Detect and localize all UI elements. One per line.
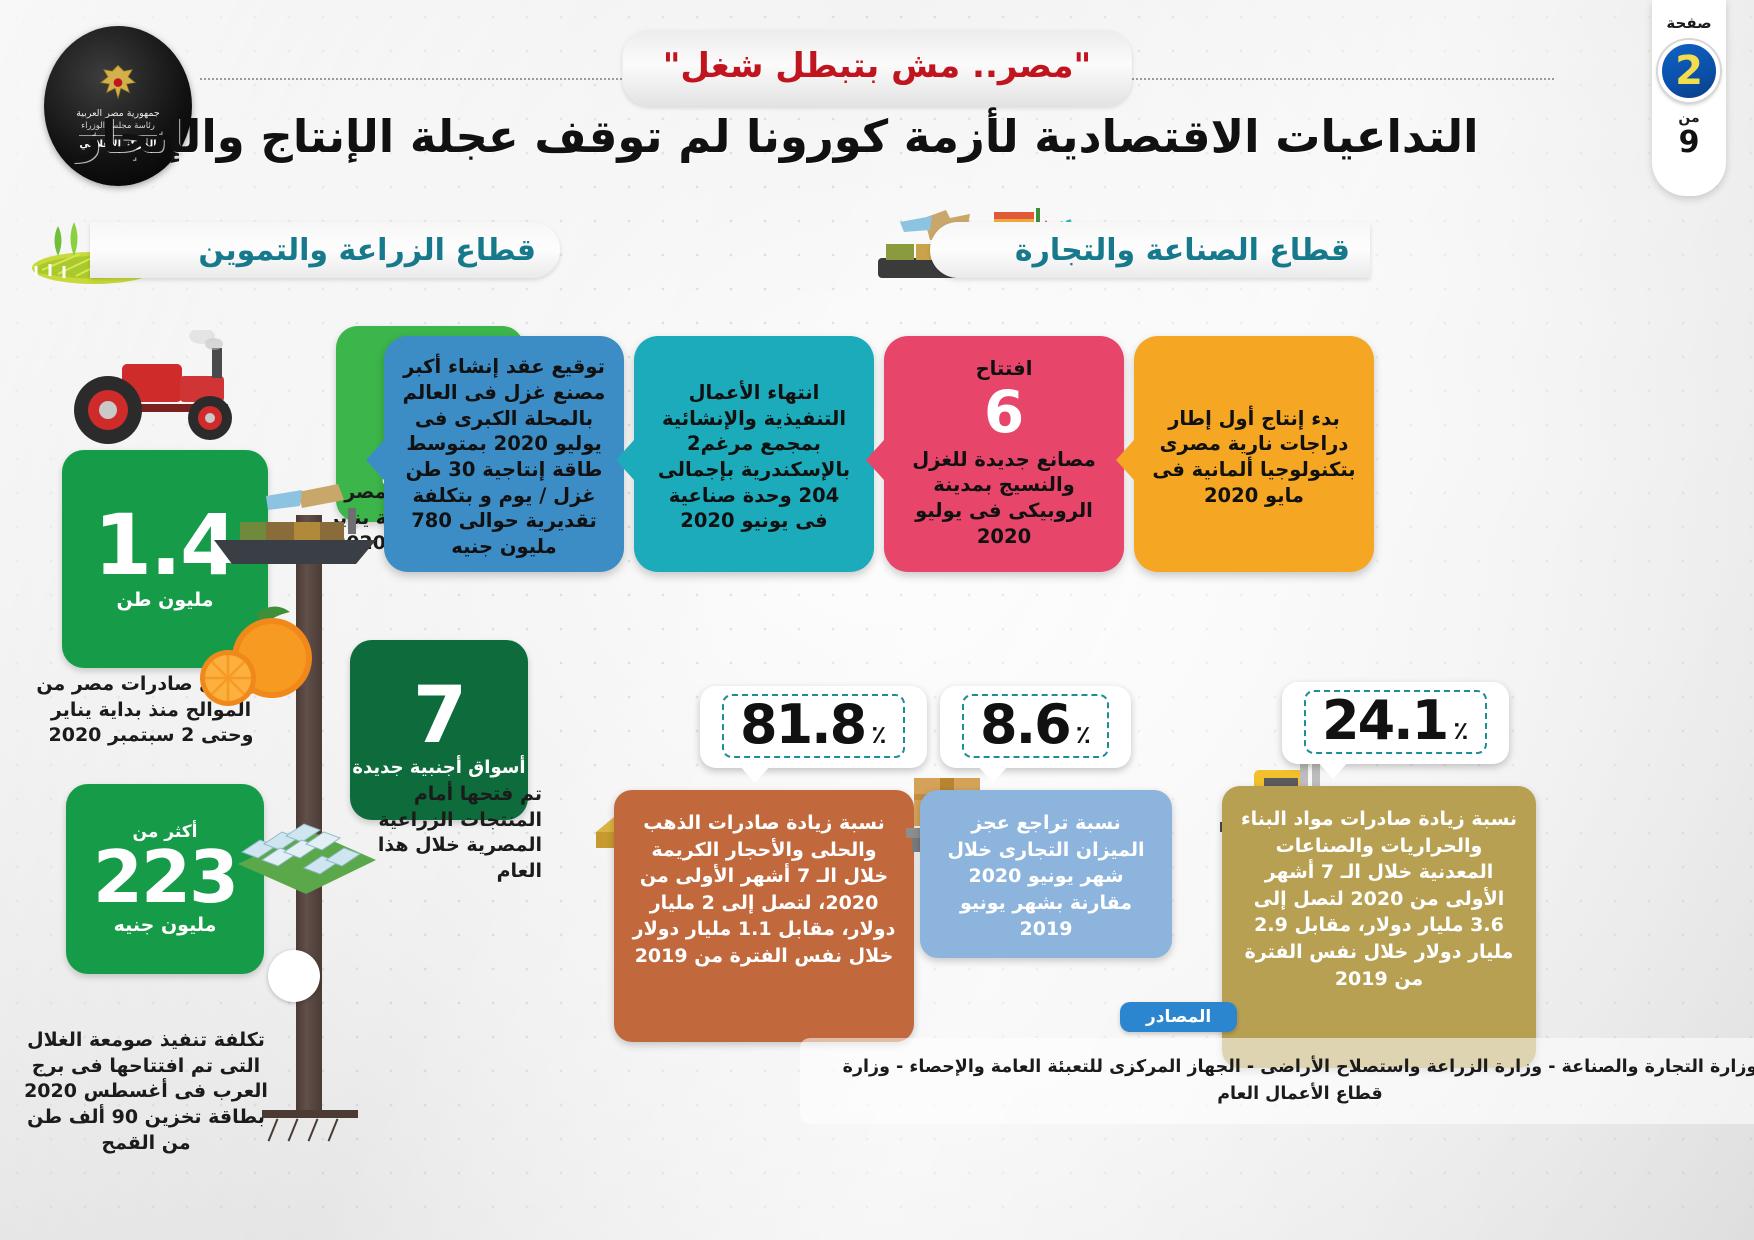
industry-box-1-text: توقيع عقد إنشاء أكبر مصنع غزل فى العالم … [400,354,608,560]
percent-caption-2: نسبة تراجع عجز الميزان التجارى خلال شهر … [920,790,1172,958]
section-header-industry: قطاع الصناعة والتجارة [930,222,1370,278]
percent-value-2: 8.6 [980,698,1070,752]
industry-box-2: انتهاء الأعمال التنفيذية والإنشائية بمجم… [634,336,874,572]
sources-label: المصادر [1120,1002,1237,1032]
eagle-emblem-icon [95,61,141,107]
sources-text: وزارة التجارة والصناعة - وزارة الزراعة و… [800,1038,1754,1124]
industry-box-4-text: بدء إنتاج أول إطار دراجات نارية مصرى بتك… [1150,406,1358,509]
percent-bubble-2: ٪ 8.6 [940,686,1131,768]
headline-quote-text: "مصر.. مش بتبطل شغل" [663,46,1092,86]
page-label: صفحة [1666,14,1711,32]
percent-bubble-3: ٪ 24.1 [1282,682,1509,764]
agri-stat-caption-4: تكلفة تنفيذ صومعة الغلال التى تم افتتاحه… [18,1028,274,1156]
section-header-agriculture: قطاع الزراعة والتموين [90,222,560,278]
percent-value-1: 81.8 [740,698,865,752]
percent-caption-1: نسبة زيادة صادرات الذهب والحلى والأحجار … [614,790,914,1042]
page-number-circle: 2 [1658,40,1720,102]
agri-stat-unit-3: أسواق أجنبية جديدة [352,757,525,779]
page-title: التداعيات الاقتصادية لأزمة كورونا لم توق… [0,108,1554,166]
percent-symbol-3: ٪ [1453,716,1468,745]
pole-knob [268,950,320,1002]
industry-box-3: افتتاح 6 مصانع جديدة للغزل والنسيج بمدين… [884,336,1124,572]
page-of-label: من [1678,110,1699,126]
greenhouse-icon [224,782,388,894]
industry-box-2-text: انتهاء الأعمال التنفيذية والإنشائية بمجم… [650,380,858,534]
percent-bubble-1: ٪ 81.8 [700,686,927,768]
percent-caption-3: نسبة زيادة صادرات مواد البناء والحراريات… [1222,786,1536,1068]
page-total: 9 [1679,128,1700,158]
page-number: 2 [1675,51,1703,91]
agri-stat-unit-4: مليون جنيه [114,914,217,936]
agri-stat-value-3: 7 [413,681,465,753]
pole-base [262,1110,358,1118]
percent-value-3: 24.1 [1322,694,1447,748]
industry-box-1: توقيع عقد إنشاء أكبر مصنع غزل فى العالم … [384,336,624,572]
agri-stat-value-4: 223 [93,844,237,910]
percent-symbol-2: ٪ [1076,720,1091,749]
orange-fruit-icon [198,596,326,720]
industry-box-3-suffix: مصانع جديدة للغزل والنسيج بمدينة الروبيك… [900,447,1108,550]
page-indicator: صفحة 2 من 9 [1652,0,1726,196]
headline-quote-pill: "مصر.. مش بتبطل شغل" [623,30,1132,106]
cargo-ship-icon [206,478,390,574]
industry-box-3-number: 6 [984,382,1024,443]
industry-box-4: بدء إنتاج أول إطار دراجات نارية مصرى بتك… [1134,336,1374,572]
tractor-icon [62,330,252,450]
section-title-industry: قطاع الصناعة والتجارة [1015,233,1350,268]
percent-symbol-1: ٪ [871,720,886,749]
section-title-agriculture: قطاع الزراعة والتموين [198,233,536,268]
